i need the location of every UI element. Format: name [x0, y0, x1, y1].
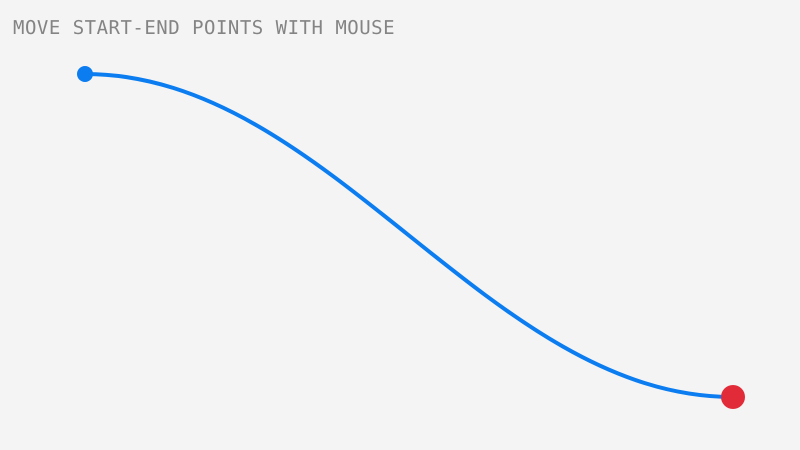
canvas-background: [0, 0, 800, 450]
end-point-handle[interactable]: [721, 385, 745, 409]
page-title: MOVE START-END POINTS WITH MOUSE: [13, 17, 395, 39]
curve-canvas[interactable]: MOVE START-END POINTS WITH MOUSE: [0, 0, 800, 450]
app-root: MOVE START-END POINTS WITH MOUSE: [0, 0, 800, 450]
curve-canvas-svg[interactable]: [0, 0, 800, 450]
start-point-handle[interactable]: [77, 66, 93, 82]
